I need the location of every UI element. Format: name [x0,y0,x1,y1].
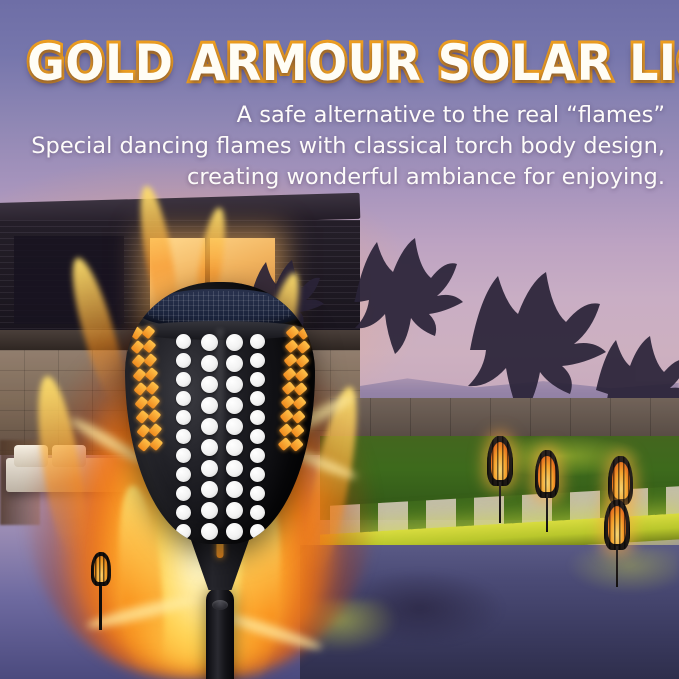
led-dot [201,523,218,540]
vent-row [284,368,306,380]
vent-row [287,326,309,338]
vent-diamond-icon [130,340,144,354]
led-dot [250,429,265,444]
torch-power-button[interactable] [212,600,228,610]
vent-row [134,368,156,380]
vent-diamond-icon [142,339,156,353]
vent-diamond-icon [289,437,303,451]
mini-torch-stake [99,582,102,630]
led-dot [201,460,218,477]
torch-flame-head [535,450,559,498]
vent-row [136,396,158,408]
vent-row [281,424,303,436]
subtitle-line-2: Special dancing flames with classical to… [5,131,665,162]
vent-diamond-icon [295,354,309,368]
vent-diamond-icon [149,436,163,450]
mini-torch-head [91,552,111,586]
vent-diamond-icon [129,326,143,340]
led-dot [226,334,243,351]
led-dot [201,481,218,498]
led-dot [250,372,265,387]
led-dot [250,410,265,425]
vent-column-right [271,326,314,511]
torch-flame-head [608,456,633,505]
vent-row [137,410,159,422]
main-product-solar-torch [125,282,315,679]
vent-row [285,354,307,366]
vent-diamond-icon [291,409,305,423]
led-dot [226,460,243,477]
vent-diamond-icon [136,423,150,437]
vent-diamond-icon [147,409,161,423]
led-dot [226,502,243,519]
led-dot [226,481,243,498]
led-dot [226,523,243,540]
led-dot [176,505,191,520]
vent-diamond-icon [292,395,306,409]
led-dot [176,410,191,425]
foreground-mini-torch [88,552,114,630]
vent-diamond-icon [135,409,149,423]
led-dot [250,353,265,368]
torch-flame-head [604,500,630,550]
vent-diamond-icon [297,326,311,340]
vent-diamond-icon [290,423,304,437]
led-dot [176,334,191,349]
led-dot [176,391,191,406]
vent-diamond-icon [148,422,162,436]
led-dot [250,505,265,520]
vent-diamond-icon [131,353,145,367]
garden-torch-light-1 [487,436,513,520]
led-dot [176,486,191,501]
led-dot [201,439,218,456]
led-dot [226,397,243,414]
led-dot [226,355,243,372]
led-dot [176,429,191,444]
led-dot [250,391,265,406]
vent-row [133,354,155,366]
vent-diamond-icon [144,367,158,381]
led-dot [176,448,191,463]
vent-row [138,424,160,436]
led-dot [201,397,218,414]
vent-row [135,382,157,394]
product-advertisement-image: GOLD ARMOUR SOLAR LIGHTS A safe alternat… [0,0,679,679]
vent-row [280,438,302,450]
subtitle-block: A safe alternative to the real “flames” … [5,100,665,193]
led-dot [176,467,191,482]
vent-column-left [126,326,169,511]
led-dot-column [226,334,243,544]
vent-diamond-icon [141,325,155,339]
led-dot [176,524,191,539]
led-dot-column [176,334,191,539]
vent-row [281,410,303,422]
vent-diamond-icon [296,340,310,354]
garden-torch-light-2 [535,450,559,530]
vent-row [283,382,305,394]
vent-row [286,340,308,352]
torch-flame-head [487,436,513,486]
vent-diamond-icon [137,437,151,451]
led-dot-column [250,334,265,539]
vent-diamond-icon [146,395,160,409]
led-dot [176,372,191,387]
led-dot [250,524,265,539]
led-dot [201,355,218,372]
subtitle-line-1: A safe alternative to the real “flames” [5,100,665,131]
subtitle-line-3: creating wonderful ambiance for enjoying… [5,162,665,193]
led-dot [250,448,265,463]
vent-row [131,326,153,338]
vent-diamond-icon [143,353,157,367]
vent-row [282,396,304,408]
torch-stake [499,482,501,522]
torch-lamp-head [125,282,315,544]
led-dot [226,418,243,435]
led-dot [250,467,265,482]
led-dot [250,334,265,349]
led-dot [250,486,265,501]
vent-diamond-icon [133,381,147,395]
led-dot [226,376,243,393]
vent-row [139,438,161,450]
led-dot [201,334,218,351]
page-title: GOLD ARMOUR SOLAR LIGHTS [27,34,652,92]
led-dot [201,418,218,435]
led-dot [226,439,243,456]
vent-diamond-icon [294,368,308,382]
vent-diamond-icon [293,382,307,396]
vent-row [132,340,154,352]
led-dot [201,502,218,519]
vent-diamond-icon [134,395,148,409]
led-dot [176,353,191,368]
vent-diamond-icon [145,381,159,395]
torch-stake [546,494,548,532]
led-dot [201,376,218,393]
vent-diamond-icon [132,367,146,381]
led-dot-column [201,334,218,544]
garden-torch-light-4 [604,500,630,584]
torch-stake [616,546,618,586]
